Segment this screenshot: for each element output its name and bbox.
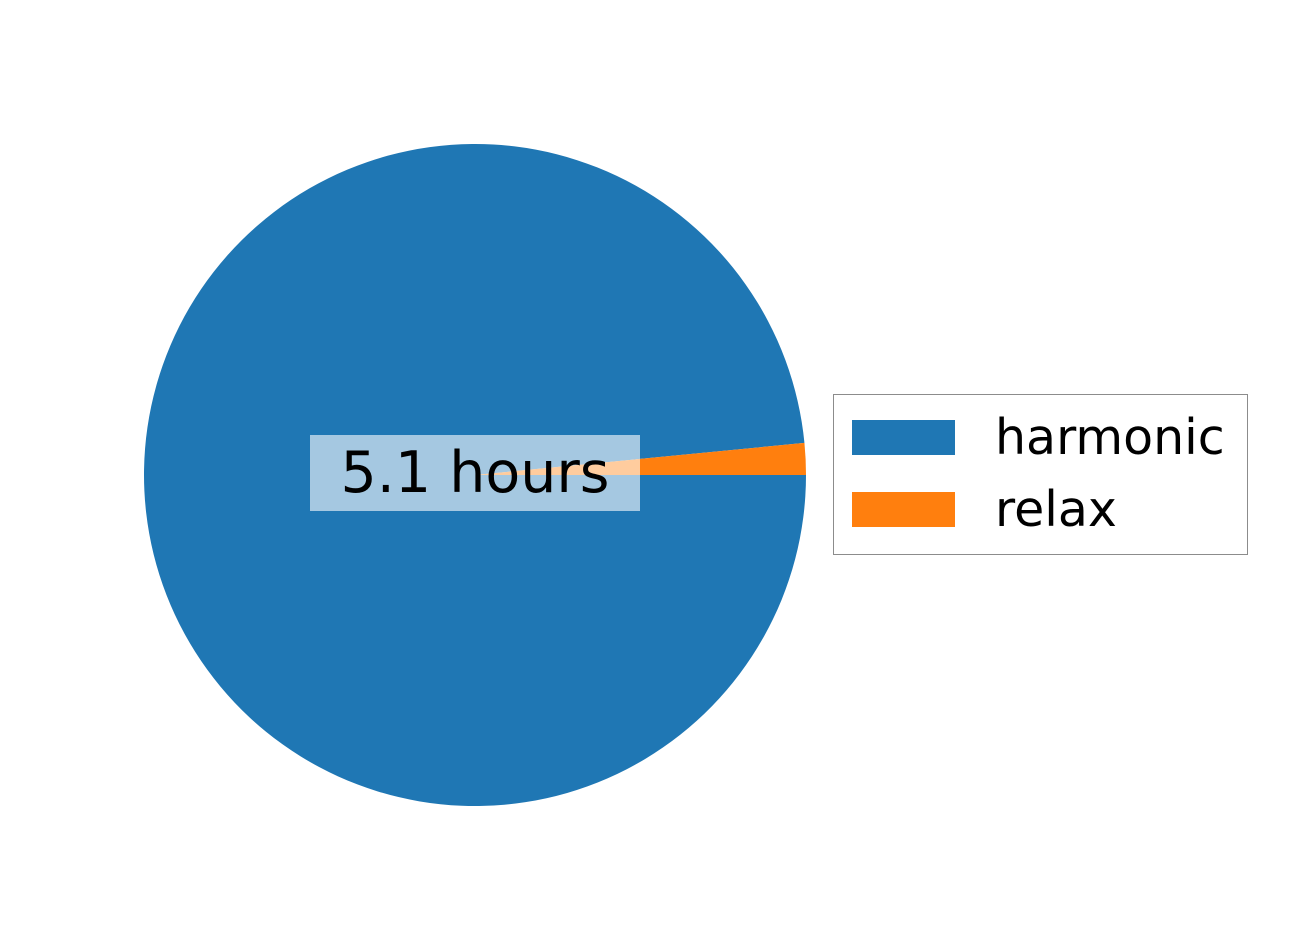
legend-label-relax: relax — [995, 485, 1117, 534]
wedge-value-label-text: 5.1 hours — [340, 445, 609, 502]
legend-swatch-harmonic — [852, 420, 955, 455]
wedge-value-label: 5.1 hours — [310, 435, 640, 511]
legend-swatch-relax — [852, 492, 955, 527]
pie-chart-figure: 5.1 hours harmonic relax — [0, 0, 1307, 951]
legend-box: harmonic relax — [833, 394, 1248, 555]
legend-label-harmonic: harmonic — [995, 413, 1225, 462]
legend-entry-relax[interactable]: relax — [834, 485, 1247, 533]
legend-entry-harmonic[interactable]: harmonic — [834, 413, 1247, 461]
